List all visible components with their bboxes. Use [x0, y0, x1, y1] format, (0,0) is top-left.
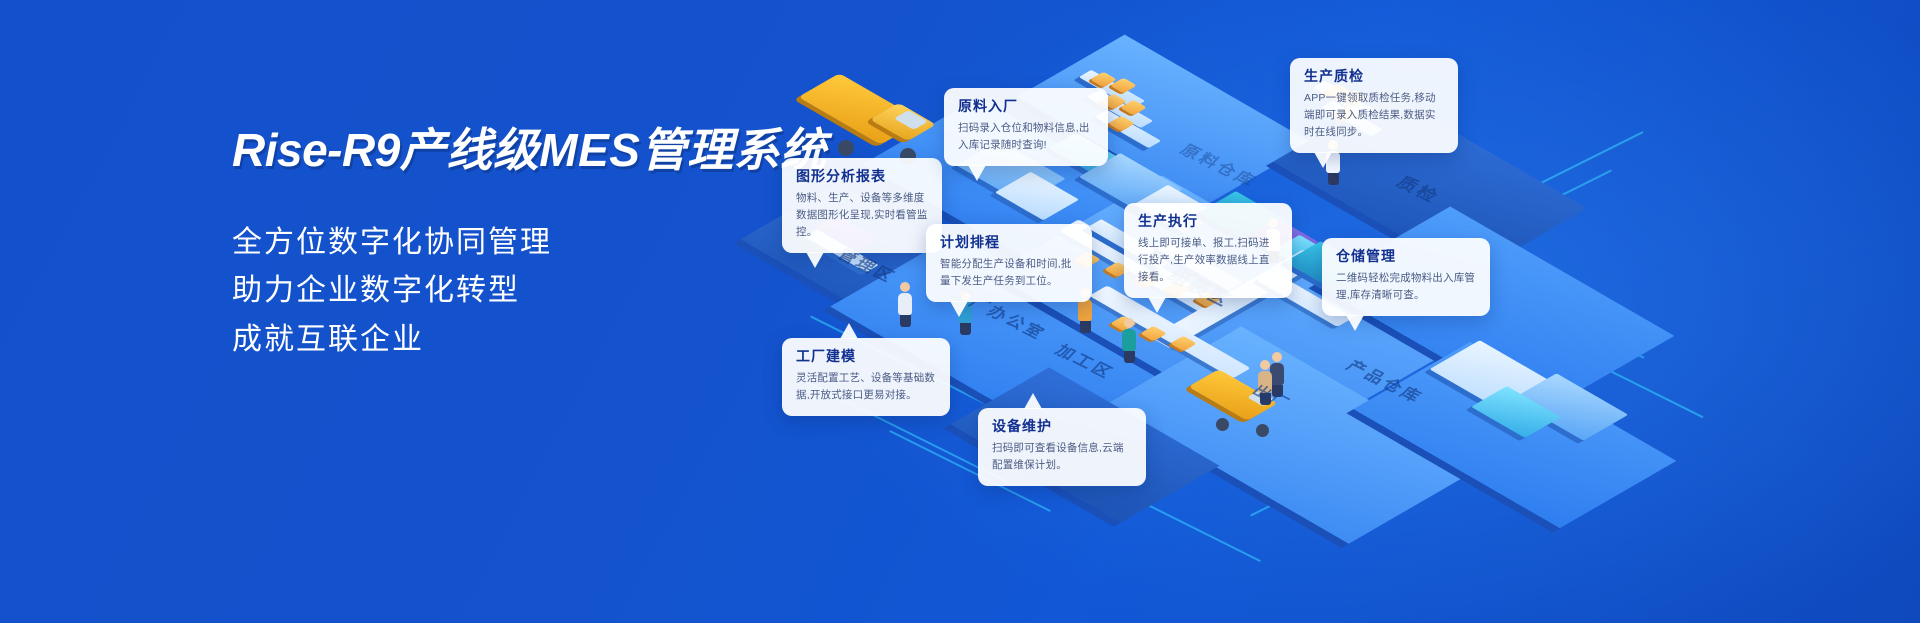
callout-title: 生产质检	[1304, 69, 1444, 84]
callout-tail-icon	[1346, 315, 1364, 331]
callout-raw-material-inbound[interactable]: 原料入厂 扫码录入仓位和物料信息,出入库记录随时查询!	[944, 88, 1108, 166]
worker-head	[1272, 352, 1282, 362]
worker-head	[1124, 318, 1134, 328]
worker-figure-icon	[1122, 318, 1136, 363]
callout-body: APP一键领取质检任务,移动端即可录入质检结果,数据实时在线同步。	[1304, 90, 1444, 141]
callout-body: 灵活配置工艺、设备等基础数据,开放式接口更易对接。	[796, 370, 936, 404]
worker-legs	[1124, 351, 1135, 363]
worker-torso	[1270, 363, 1284, 385]
callout-tail-icon	[806, 252, 824, 268]
worker-head	[900, 282, 910, 292]
callout-tail-icon	[950, 301, 968, 317]
mes-hero-banner: Rise-R9产线级MES管理系统 全方位数字化协同管理 助力企业数字化转型 成…	[0, 0, 1920, 623]
worker-legs	[1328, 173, 1339, 185]
callout-body: 物料、生产、设备等多维度数据图形化呈现,实时看管监控。	[796, 190, 928, 241]
callout-planning-scheduling[interactable]: 计划排程 智能分配生产设备和时间,批量下发生产任务到工位。	[926, 224, 1092, 302]
title-product-name: Rise-R9	[232, 124, 400, 176]
callout-chart-analysis-report[interactable]: 图形分析报表 物料、生产、设备等多维度数据图形化呈现,实时看管监控。	[782, 158, 942, 253]
truck-wheel	[1216, 418, 1229, 431]
callout-tail-icon	[840, 323, 858, 339]
worker-head	[1260, 360, 1270, 370]
callout-body: 线上即可接单、报工,扫码进行投产,生产效率数据线上直接看。	[1138, 235, 1278, 286]
callout-factory-modeling[interactable]: 工厂建模 灵活配置工艺、设备等基础数据,开放式接口更易对接。	[782, 338, 950, 416]
callout-title: 计划排程	[940, 235, 1078, 250]
callout-tail-icon	[1314, 152, 1332, 168]
callout-body: 智能分配生产设备和时间,批量下发生产任务到工位。	[940, 256, 1078, 290]
worker-torso	[1078, 299, 1092, 321]
callout-production-quality-inspection[interactable]: 生产质检 APP一键领取质检任务,移动端即可录入质检结果,数据实时在线同步。	[1290, 58, 1458, 153]
truck-wheel	[1256, 424, 1269, 437]
callout-title: 工厂建模	[796, 349, 936, 364]
worker-legs	[1080, 321, 1091, 333]
callout-body: 扫码录入仓位和物料信息,出入库记录随时查询!	[958, 120, 1094, 154]
worker-torso	[898, 293, 912, 315]
callout-body: 二维码轻松完成物料出入库管理,库存清晰可查。	[1336, 270, 1476, 304]
callout-tail-icon	[968, 165, 986, 181]
callout-body: 扫码即可查看设备信息,云端配置维保计划。	[992, 440, 1132, 474]
worker-legs	[900, 315, 911, 327]
callout-production-execution[interactable]: 生产执行 线上即可接单、报工,扫码进行投产,生产效率数据线上直接看。	[1124, 203, 1292, 298]
worker-torso	[1122, 329, 1136, 351]
callout-title: 设备维护	[992, 419, 1132, 434]
callout-title: 生产执行	[1138, 214, 1278, 229]
worker-legs	[960, 323, 971, 335]
callout-warehouse-management[interactable]: 仓储管理 二维码轻松完成物料出入库管理,库存清晰可查。	[1322, 238, 1490, 316]
worker-figure-icon	[898, 282, 912, 327]
callout-title: 仓储管理	[1336, 249, 1476, 264]
callout-title: 原料入厂	[958, 99, 1094, 114]
callout-title: 图形分析报表	[796, 169, 928, 184]
truck-wheel	[838, 140, 854, 156]
callout-tail-icon	[1148, 297, 1166, 313]
callout-equipment-maintenance[interactable]: 设备维护 扫码即可查看设备信息,云端配置维保计划。	[978, 408, 1146, 486]
callout-tail-icon	[1024, 393, 1042, 409]
